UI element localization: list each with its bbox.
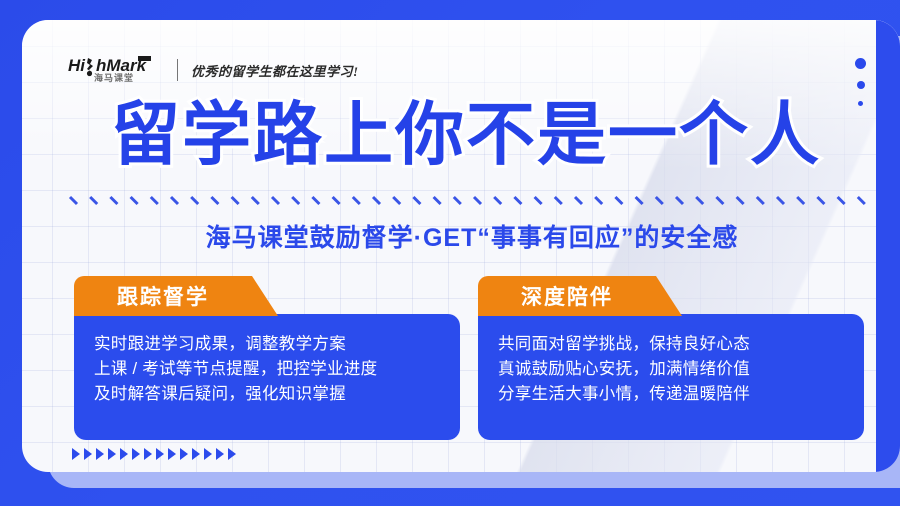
panel-line: 实时跟进学习成果，调整教学方案 — [94, 332, 440, 357]
panel-tab-companionship[interactable]: 深度陪伴 — [478, 276, 656, 316]
page-subtitle: 海马课堂鼓励督学·GET“事事有回应”的安全感 — [56, 220, 888, 256]
panel-line: 分享生活大事小情，传递温暖陪伴 — [498, 382, 844, 407]
arrow-icon — [204, 448, 212, 460]
arrow-icon — [156, 448, 164, 460]
dash-stroke — [535, 197, 542, 204]
dash-stroke — [353, 197, 360, 204]
dash-stroke — [858, 197, 865, 204]
arrow-icon — [216, 448, 224, 460]
arrow-icon — [72, 448, 80, 460]
panel-line: 及时解答课后疑问，强化知识掌握 — [94, 382, 440, 407]
dash-stroke — [191, 197, 198, 204]
dash-stroke — [434, 197, 441, 204]
dash-stroke — [757, 197, 764, 204]
feature-panels: 跟踪督学 实时跟进学习成果，调整教学方案 上课 / 考试等节点提醒，把控学业进度… — [74, 276, 864, 440]
panel-tracking: 跟踪督学 实时跟进学习成果，调整教学方案 上课 / 考试等节点提醒，把控学业进度… — [74, 276, 460, 440]
dash-stroke — [636, 197, 643, 204]
arrow-icon — [228, 448, 236, 460]
dash-stroke — [555, 197, 562, 204]
dash-stroke — [838, 197, 845, 204]
svg-text:海马课堂: 海马课堂 — [94, 72, 134, 84]
dash-stroke — [413, 197, 420, 204]
dash-stroke — [252, 197, 259, 204]
arrow-icon — [84, 448, 92, 460]
arrow-icon — [108, 448, 116, 460]
header-divider — [177, 59, 178, 81]
dash-stroke — [333, 197, 340, 204]
dash-stroke — [615, 197, 622, 204]
arrow-icon — [96, 448, 104, 460]
panel-body-companionship: 共同面对留学挑战，保持良好心态 真诚鼓励贴心安抚，加满情绪价值 分享生活大事小情… — [478, 314, 864, 440]
arrow-icon — [180, 448, 188, 460]
dash-stroke — [716, 197, 723, 204]
decor-dot — [858, 101, 863, 106]
arrow-icon — [120, 448, 128, 460]
arrow-icon — [192, 448, 200, 460]
dash-stroke — [211, 197, 218, 204]
dash-stroke — [393, 197, 400, 204]
decor-dot — [857, 81, 865, 89]
dash-stroke — [514, 197, 521, 204]
dash-stroke — [90, 197, 97, 204]
dash-stroke — [494, 197, 501, 204]
dash-stroke — [131, 197, 138, 204]
header: Hi hMark 海马课堂 优秀的留学生都在这里学习! — [68, 54, 359, 86]
dash-stroke — [454, 197, 461, 204]
dot-decoration — [855, 58, 866, 106]
dash-stroke — [312, 197, 319, 204]
dash-stroke — [696, 197, 703, 204]
dashed-divider — [68, 194, 876, 206]
arrow-icon — [132, 448, 140, 460]
panel-body-tracking: 实时跟进学习成果，调整教学方案 上课 / 考试等节点提醒，把控学业进度 及时解答… — [74, 314, 460, 440]
dash-stroke — [70, 197, 77, 204]
panel-line: 真诚鼓励贴心安抚，加满情绪价值 — [498, 357, 844, 382]
dash-stroke — [292, 197, 299, 204]
dash-stroke — [595, 197, 602, 204]
poster-root: Hi hMark 海马课堂 优秀的留学生都在这里学习! 留学路上你不是一个人 — [0, 0, 900, 506]
dash-stroke — [737, 197, 744, 204]
page-title: 留学路上你不是一个人 — [56, 96, 876, 174]
dash-stroke — [232, 197, 239, 204]
dash-stroke — [656, 197, 663, 204]
panel-companionship: 深度陪伴 共同面对留学挑战，保持良好心态 真诚鼓励贴心安抚，加满情绪价值 分享生… — [478, 276, 864, 440]
content-card: Hi hMark 海马课堂 优秀的留学生都在这里学习! 留学路上你不是一个人 — [22, 20, 900, 472]
arrow-icon — [168, 448, 176, 460]
dash-stroke — [474, 197, 481, 204]
arrow-icon — [144, 448, 152, 460]
svg-text:Hi: Hi — [68, 56, 86, 75]
dash-stroke — [575, 197, 582, 204]
brand-tagline: 优秀的留学生都在这里学习! — [191, 61, 359, 80]
dash-stroke — [171, 197, 178, 204]
panel-line: 共同面对留学挑战，保持良好心态 — [498, 332, 844, 357]
dashed-divider-svg — [68, 195, 876, 206]
dash-stroke — [373, 197, 380, 204]
highmark-logo: Hi hMark 海马课堂 — [68, 55, 164, 85]
dash-stroke — [777, 197, 784, 204]
dash-stroke — [272, 197, 279, 204]
dash-stroke — [676, 197, 683, 204]
dash-stroke — [110, 197, 117, 204]
decor-dot — [855, 58, 866, 69]
dash-stroke — [817, 197, 824, 204]
panel-tab-tracking[interactable]: 跟踪督学 — [74, 276, 252, 316]
highmark-logo-icon: Hi hMark 海马课堂 — [68, 55, 164, 85]
dash-stroke — [151, 197, 158, 204]
arrow-decoration-strip — [72, 448, 236, 460]
panel-line: 上课 / 考试等节点提醒，把控学业进度 — [94, 357, 440, 382]
dash-stroke — [797, 197, 804, 204]
